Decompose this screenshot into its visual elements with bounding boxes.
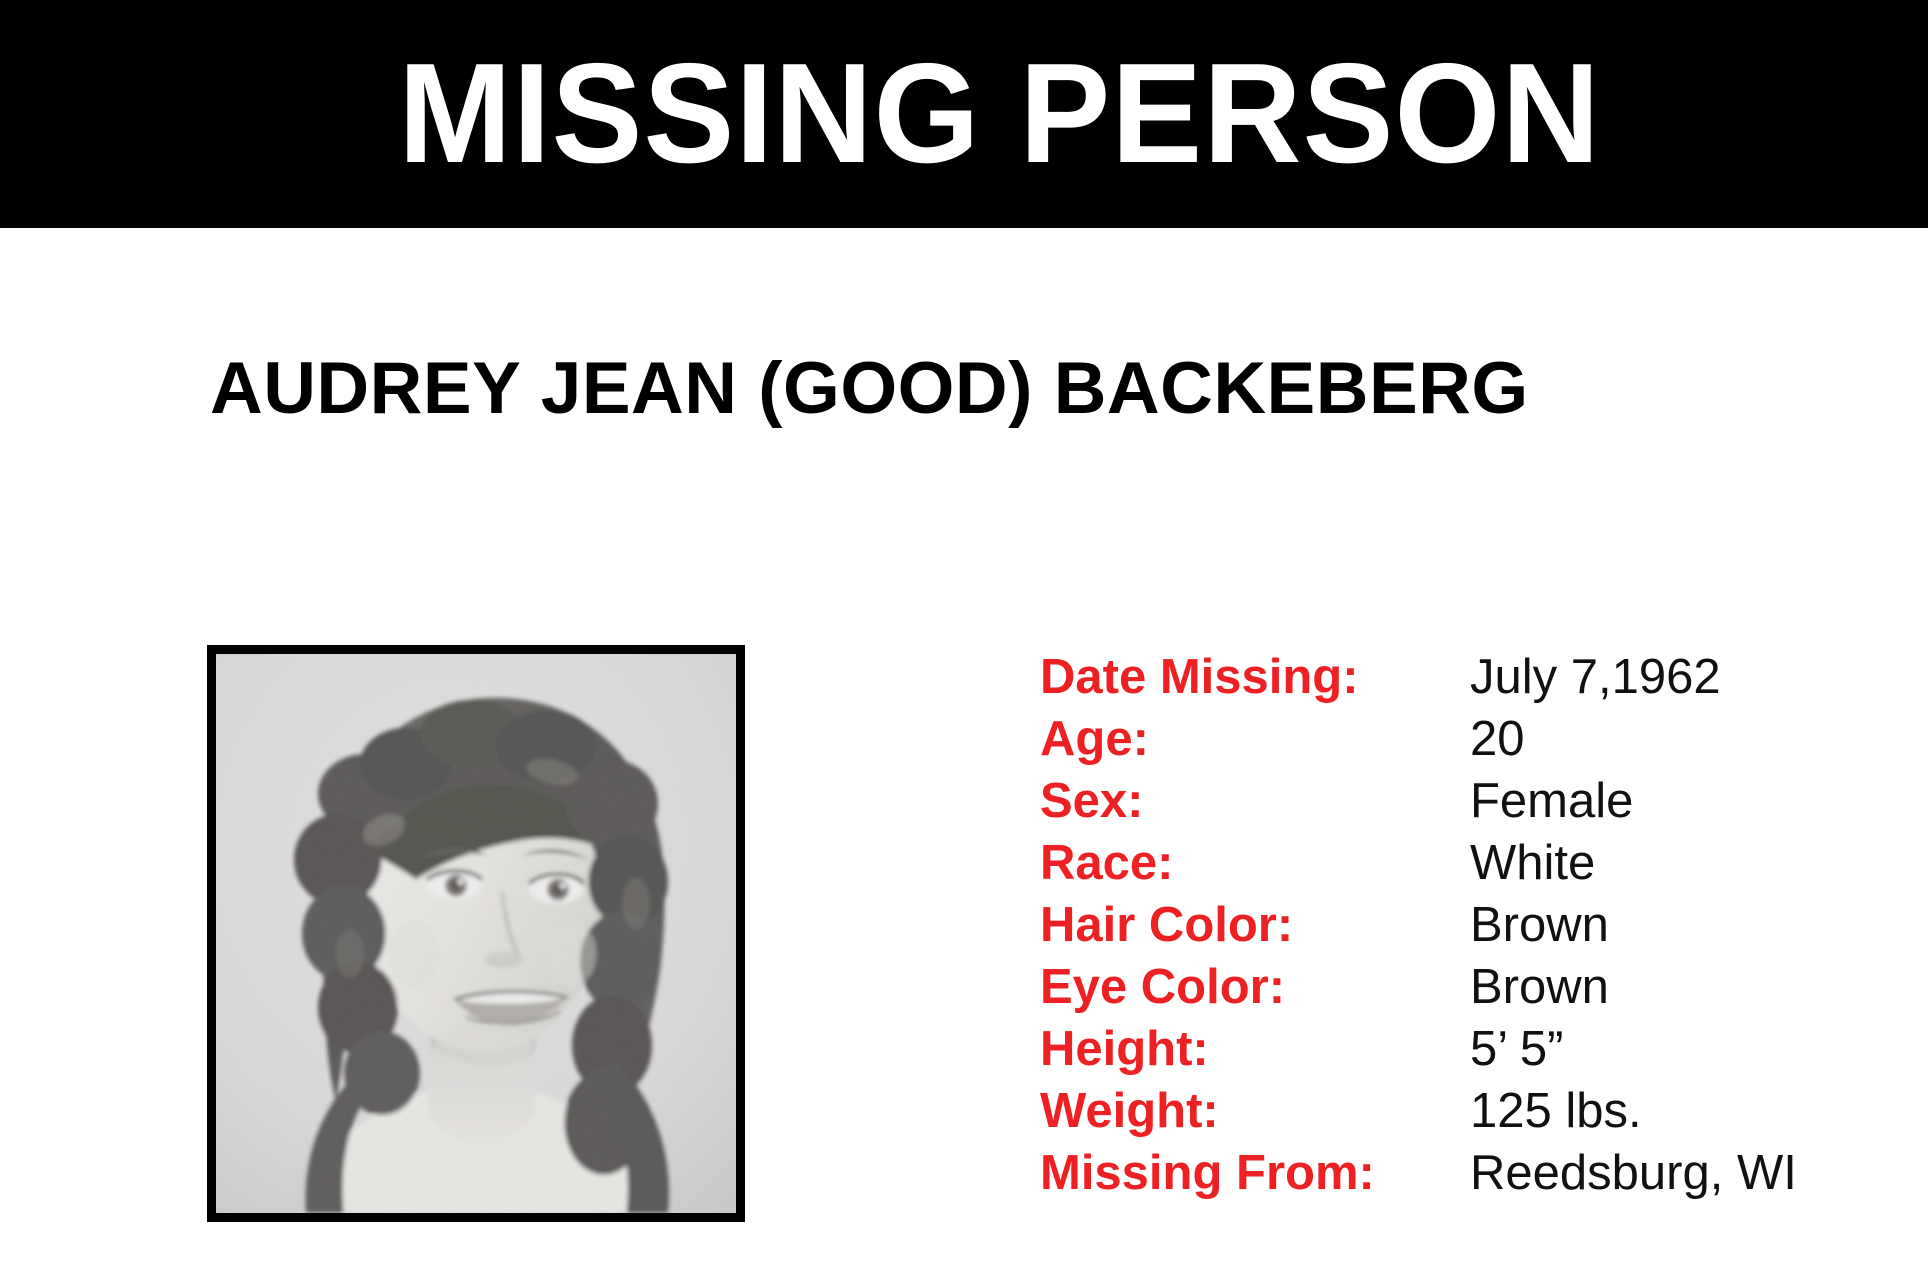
detail-row-age: Age: 20 (1040, 708, 1880, 770)
person-photo (216, 654, 736, 1213)
detail-row-hair-color: Hair Color: Brown (1040, 894, 1880, 956)
detail-value-weight: 125 lbs. (1470, 1080, 1880, 1142)
detail-row-sex: Sex: Female (1040, 770, 1880, 832)
detail-row-height: Height: 5’ 5” (1040, 1018, 1880, 1080)
detail-value-missing-from: Reedsburg, WI (1470, 1142, 1880, 1204)
detail-row-missing-from: Missing From: Reedsburg, WI (1040, 1142, 1880, 1204)
detail-label-missing-from: Missing From: (1040, 1142, 1470, 1204)
detail-label-race: Race: (1040, 832, 1470, 894)
detail-row-date-missing: Date Missing: July 7,1962 (1040, 646, 1880, 708)
detail-value-sex: Female (1470, 770, 1880, 832)
details-list: Date Missing: July 7,1962 Age: 20 Sex: F… (1040, 646, 1880, 1204)
detail-label-hair-color: Hair Color: (1040, 894, 1470, 956)
person-photo-frame (207, 645, 745, 1222)
detail-value-eye-color: Brown (1470, 956, 1880, 1018)
person-name-heading: AUDREY JEAN (GOOD) BACKEBERG (210, 350, 1810, 440)
detail-label-height: Height: (1040, 1018, 1470, 1080)
detail-row-race: Race: White (1040, 832, 1880, 894)
detail-value-race: White (1470, 832, 1880, 894)
detail-label-weight: Weight: (1040, 1080, 1470, 1142)
detail-value-height: 5’ 5” (1470, 1018, 1880, 1080)
detail-value-date-missing: July 7,1962 (1470, 646, 1880, 708)
detail-row-eye-color: Eye Color: Brown (1040, 956, 1880, 1018)
header-banner: MISSING PERSON (0, 0, 1928, 228)
detail-row-weight: Weight: 125 lbs. (1040, 1080, 1880, 1142)
detail-label-sex: Sex: (1040, 770, 1470, 832)
detail-value-hair-color: Brown (1470, 894, 1880, 956)
detail-value-age: 20 (1470, 708, 1880, 770)
detail-label-age: Age: (1040, 708, 1470, 770)
poster-title: MISSING PERSON (39, 0, 1890, 228)
detail-label-eye-color: Eye Color: (1040, 956, 1470, 1018)
detail-label-date-missing: Date Missing: (1040, 646, 1470, 708)
